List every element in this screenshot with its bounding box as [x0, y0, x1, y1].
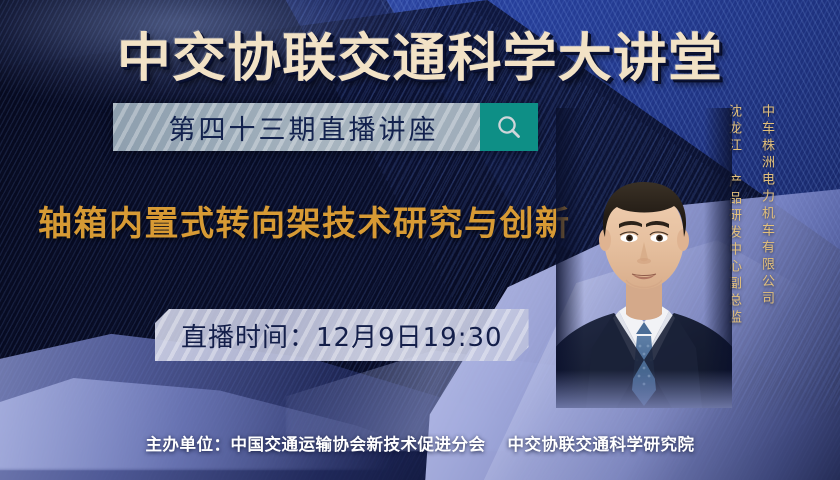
speaker-name-and-title: 沈龙江 产品研发中心副总监 [727, 104, 740, 327]
footer-organizer-1: 中国交通运输协会新技术促进分会 [231, 435, 486, 454]
broadcast-time-badge: 直播时间：12月9日19:30 [155, 309, 529, 361]
episode-label: 第四十三期直播讲座 [155, 108, 439, 147]
speaker-company: 中车株洲电力机车有限公司 [760, 104, 773, 308]
lecture-topic-headline: 轴箱内置式转向架技术研究与创新 [38, 196, 571, 245]
footer-organizers: 主办单位：中国交通运输协会新技术促进分会中交协联交通科学研究院 [0, 431, 840, 455]
live-lecture-poster: 中交协联交通科学大讲堂 第四十三期直播讲座 轴箱内置式转向架技术研究与创新 直播… [0, 0, 840, 480]
search-button[interactable] [480, 103, 538, 151]
episode-banner: 第四十三期直播讲座 [113, 103, 538, 151]
search-icon [495, 113, 523, 141]
episode-banner-body: 第四十三期直播讲座 [113, 103, 480, 151]
speaker-portrait-image [556, 108, 732, 408]
page-title: 中交协联交通科学大讲堂 [0, 16, 840, 91]
speaker-portrait [556, 108, 732, 408]
footer-organizer-2: 中交协联交通科学研究院 [508, 435, 695, 454]
broadcast-time-text: 直播时间：12月9日19:30 [181, 317, 503, 354]
footer-organizer-label: 主办单位： [146, 435, 231, 454]
